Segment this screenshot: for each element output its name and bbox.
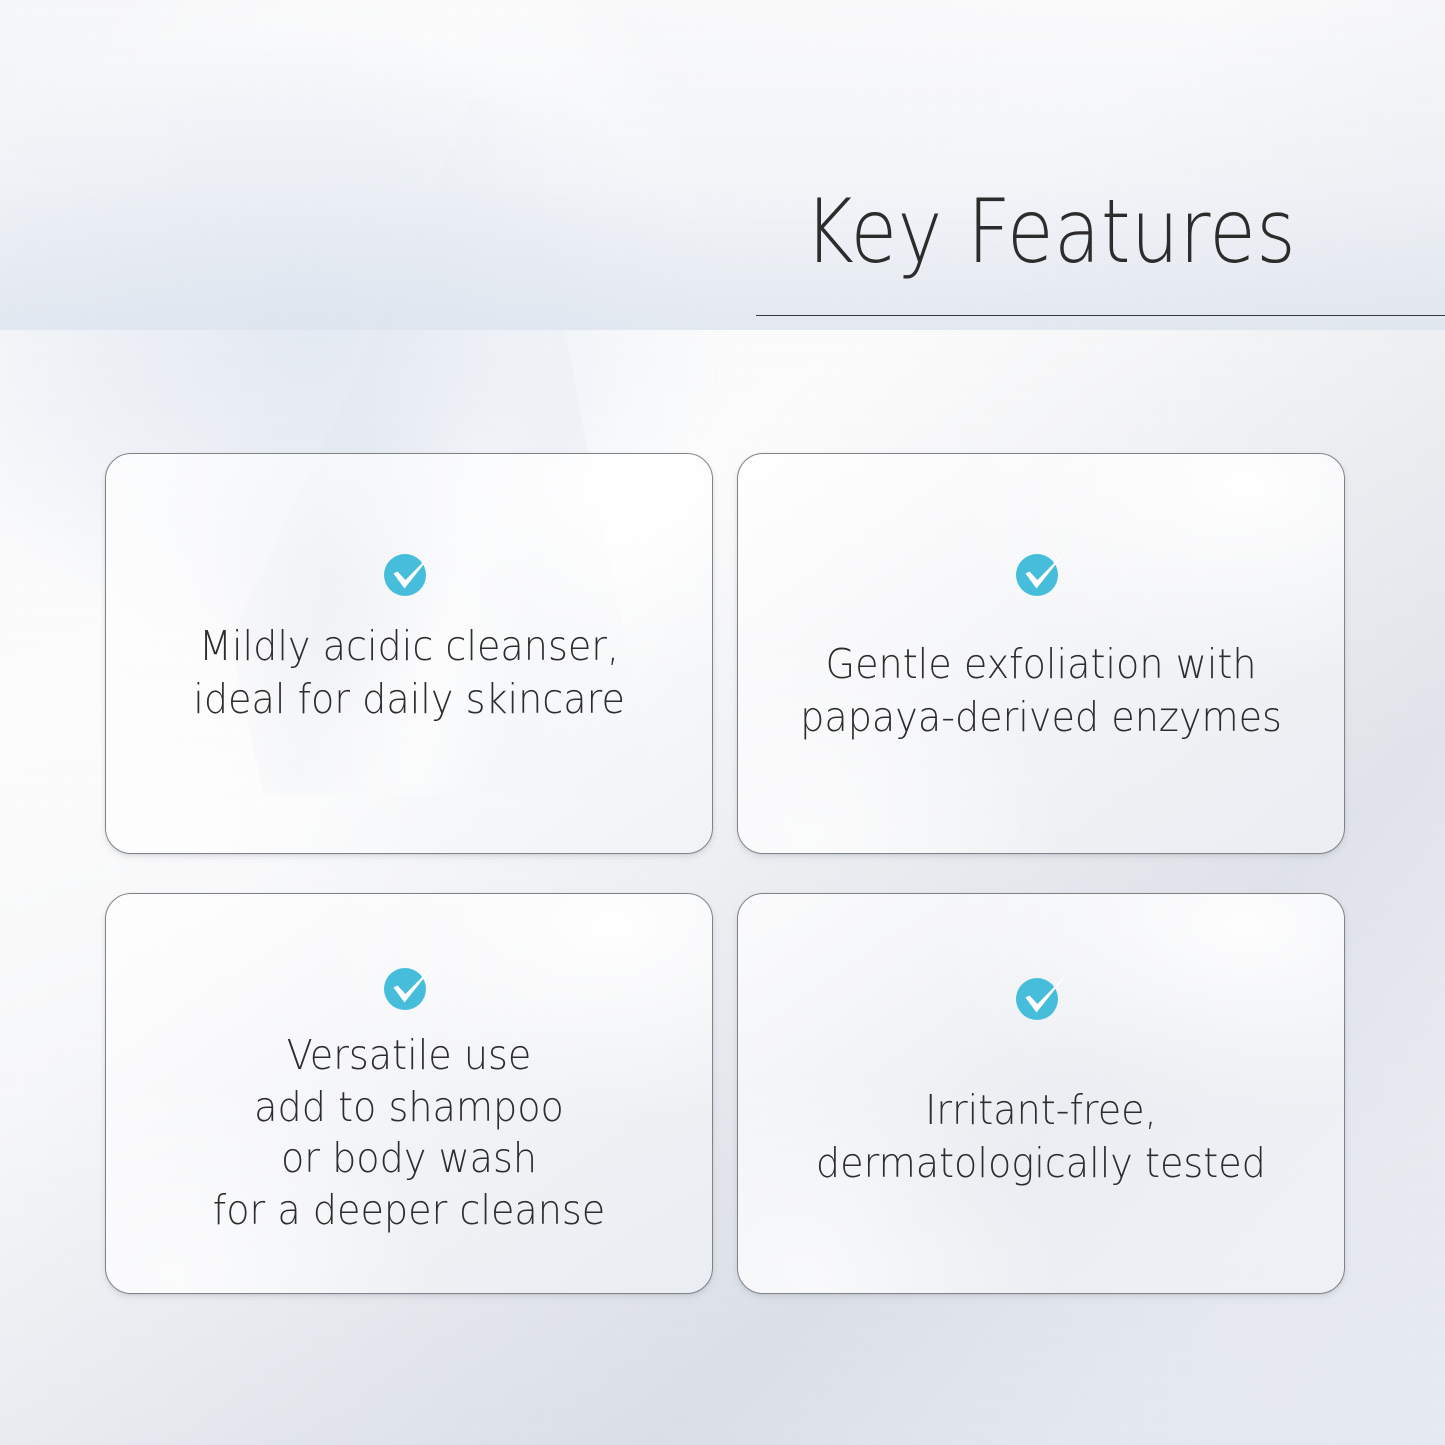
- check-circle-icon: [377, 542, 441, 598]
- check-circle-icon: [377, 956, 441, 1012]
- feature-card-text: Versatile use add to shampoo or body was…: [189, 1030, 630, 1237]
- feature-card-mildly-acidic-cleanser[interactable]: Mildly acidic cleanser, ideal for daily …: [105, 453, 713, 854]
- feature-card-gentle-exfoliation[interactable]: Gentle exfoliation with papaya-derived e…: [737, 453, 1345, 854]
- header: Key Features: [756, 188, 1445, 276]
- feature-card-grid: Mildly acidic cleanser, ideal for daily …: [105, 453, 1343, 1294]
- feature-card-irritant-free[interactable]: Irritant-free, dermatologically tested: [737, 893, 1345, 1294]
- feature-card-text: Mildly acidic cleanser, ideal for daily …: [169, 620, 649, 727]
- check-circle-icon: [1009, 966, 1073, 1022]
- feature-card-text: Gentle exfoliation with papaya-derived e…: [776, 638, 1306, 745]
- page-title: Key Features: [804, 188, 1397, 276]
- feature-card-versatile-use[interactable]: Versatile use add to shampoo or body was…: [105, 893, 713, 1294]
- title-underline-rule: [756, 315, 1445, 316]
- specular-highlight: [0, 0, 700, 500]
- feature-card-text: Irritant-free, dermatologically tested: [792, 1084, 1290, 1191]
- check-circle-icon: [1009, 542, 1073, 598]
- key-features-panel: Key Features Mildly acidic cleanser, ide…: [0, 0, 1445, 1445]
